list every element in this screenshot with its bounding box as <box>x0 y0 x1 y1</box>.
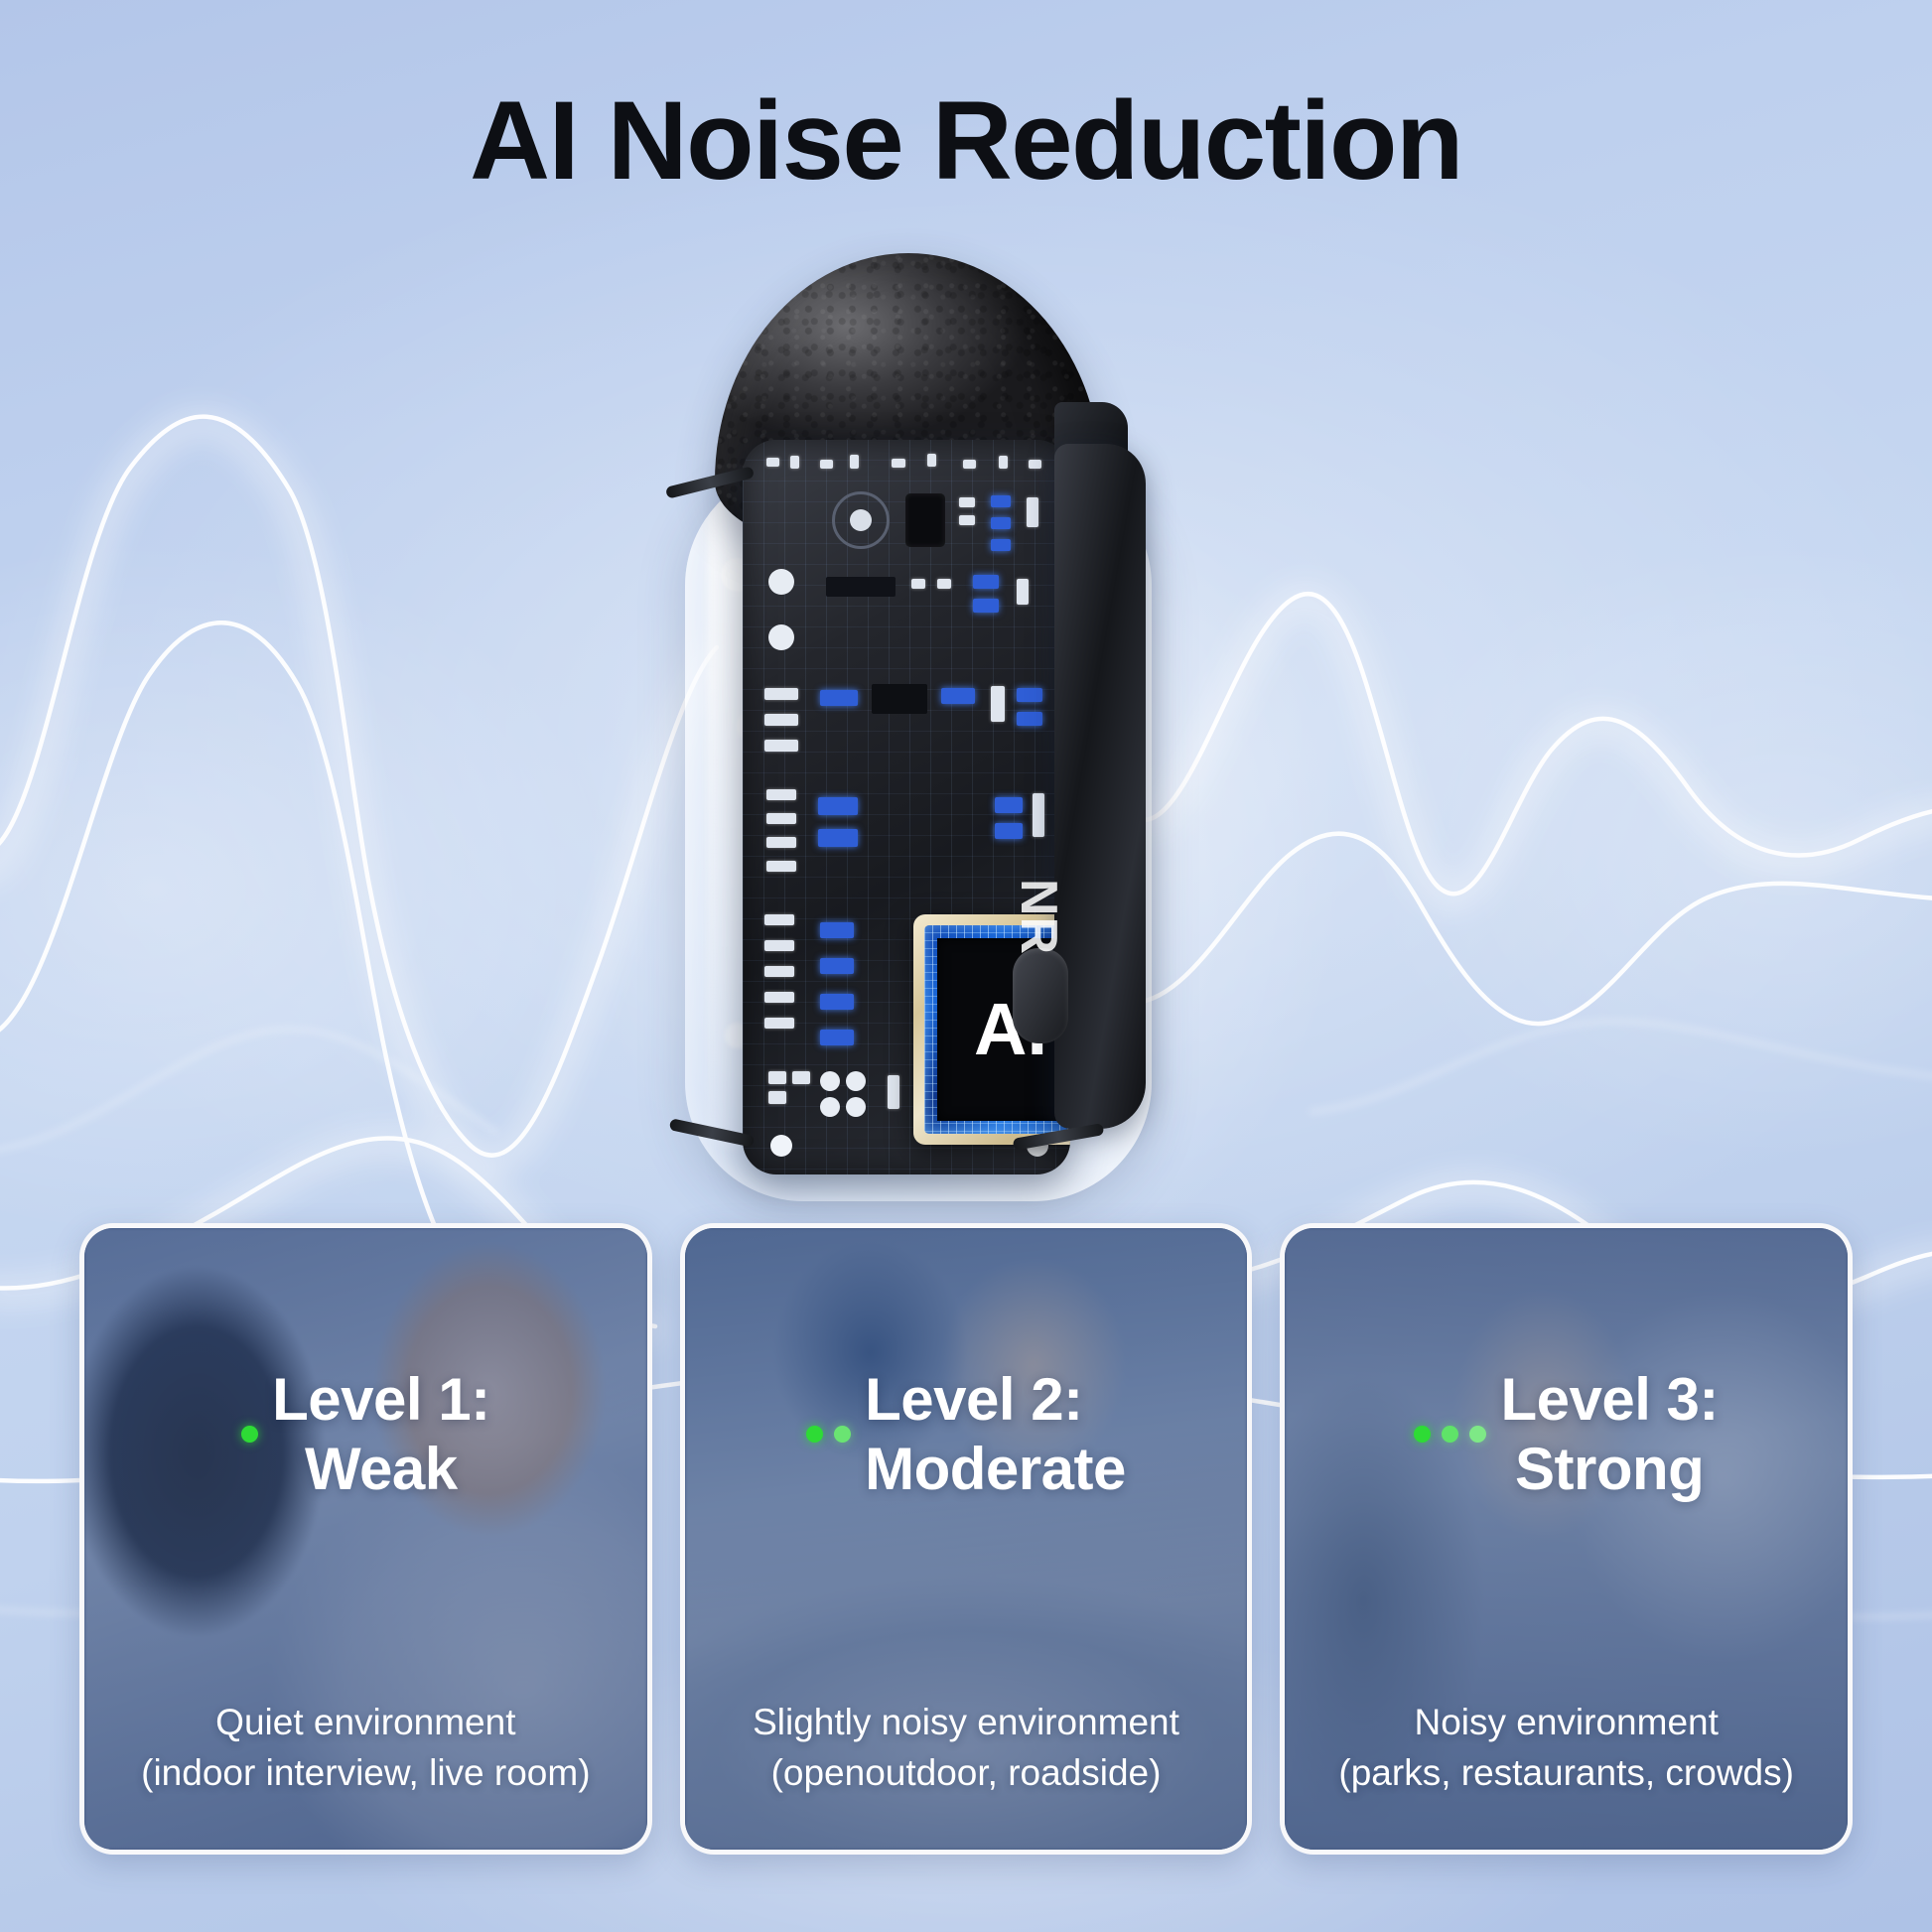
level-indicator-dots <box>806 1426 851 1443</box>
pcb-led <box>1017 712 1042 726</box>
pcb-pad <box>850 509 872 531</box>
pcb-pad <box>820 1097 840 1117</box>
level-indicator-dots <box>241 1426 258 1443</box>
circuit-board: AI <box>743 440 1070 1174</box>
page-title: AI Noise Reduction <box>0 75 1932 207</box>
card-heading-row: Level 3: Strong <box>1414 1365 1718 1503</box>
pcb-component <box>764 688 798 700</box>
pcb-component <box>764 714 798 726</box>
pcb-component <box>937 579 951 589</box>
pcb-component <box>1029 460 1041 469</box>
card-caption-line2: (parks, restaurants, crowds) <box>1338 1747 1794 1798</box>
pcb-component <box>766 837 796 848</box>
pcb-component <box>820 460 833 469</box>
card-caption-line1: Slightly noisy environment <box>753 1697 1179 1747</box>
level-dot <box>834 1426 851 1443</box>
pcb-component <box>764 914 794 925</box>
pcb-led <box>991 539 1011 551</box>
pcb-led <box>820 922 854 938</box>
pcb-component <box>792 1071 810 1084</box>
pcb-component <box>766 458 779 467</box>
card-caption: Quiet environment (indoor interview, liv… <box>141 1697 590 1798</box>
pcb-pad <box>820 1071 840 1091</box>
pcb-pad <box>770 1135 792 1157</box>
pcb-component <box>768 1071 786 1084</box>
pcb-component <box>766 861 796 872</box>
pcb-component <box>1033 793 1044 837</box>
card-heading-line2: Moderate <box>865 1435 1126 1504</box>
level-dot <box>1469 1426 1486 1443</box>
pcb-component <box>764 1018 794 1029</box>
pcb-led <box>820 690 858 706</box>
card-heading: Level 2: Moderate <box>865 1365 1126 1503</box>
card-caption-line1: Quiet environment <box>141 1697 590 1747</box>
card-caption-line1: Noisy environment <box>1338 1697 1794 1747</box>
pcb-component <box>892 459 905 468</box>
pcb-led <box>820 1030 854 1045</box>
pcb-component <box>850 455 859 469</box>
pcb-component <box>999 456 1008 469</box>
pcb-component <box>1017 579 1029 605</box>
level-card-1[interactable]: Level 1: Weak Quiet environment (indoor … <box>79 1223 652 1855</box>
pcb-component <box>1027 497 1038 527</box>
level-card-3[interactable]: Level 3: Strong Noisy environment (parks… <box>1280 1223 1853 1855</box>
poster-canvas: AI Noise Reduction <box>0 0 1932 1932</box>
pcb-led <box>991 495 1011 507</box>
card-heading: Level 3: Strong <box>1500 1365 1718 1503</box>
pcb-component <box>888 1075 899 1109</box>
pcb-component <box>764 740 798 752</box>
pcb-component <box>766 789 796 800</box>
pcb-led <box>820 958 854 974</box>
pcb-component <box>927 454 936 467</box>
pcb-component <box>766 813 796 824</box>
level-card-2[interactable]: Level 2: Moderate Slightly noisy environ… <box>680 1223 1253 1855</box>
pcb-led <box>973 575 999 589</box>
pcb-ic <box>872 684 927 714</box>
pcb-ic <box>826 577 896 597</box>
card-heading-line1: Level 1: <box>272 1366 489 1433</box>
pcb-led <box>973 599 999 613</box>
card-heading-line2: Weak <box>272 1435 489 1504</box>
card-heading: Level 1: Weak <box>272 1365 489 1503</box>
pcb-pad <box>846 1071 866 1091</box>
pcb-component <box>959 497 975 507</box>
pcb-pad <box>768 624 794 650</box>
level-dot <box>1414 1426 1431 1443</box>
pcb-led <box>995 797 1023 813</box>
card-caption: Slightly noisy environment (openoutdoor,… <box>753 1697 1179 1798</box>
pcb-pad <box>846 1097 866 1117</box>
level-dot <box>1442 1426 1458 1443</box>
pcb-led <box>820 994 854 1010</box>
card-heading-row: Level 2: Moderate <box>806 1365 1126 1503</box>
pcb-led <box>818 829 858 847</box>
product-microphone: AI <box>685 253 1241 1236</box>
side-button <box>1013 948 1068 1043</box>
pcb-component <box>959 515 975 525</box>
pcb-component <box>963 460 976 469</box>
pcb-component <box>764 966 794 977</box>
pcb-pad <box>768 569 794 595</box>
card-heading-line2: Strong <box>1500 1435 1718 1504</box>
card-caption-line2: (indoor interview, live room) <box>141 1747 590 1798</box>
pcb-component <box>991 686 1005 722</box>
pcb-component <box>764 940 794 951</box>
card-heading-line1: Level 2: <box>865 1366 1082 1433</box>
pcb-component <box>790 456 799 469</box>
level-dot <box>806 1426 823 1443</box>
pcb-led <box>818 797 858 815</box>
level-indicator-dots <box>1414 1426 1486 1443</box>
card-heading-row: Level 1: Weak <box>241 1365 489 1503</box>
pcb-led <box>991 517 1011 529</box>
card-caption-line2: (openoutdoor, roadside) <box>753 1747 1179 1798</box>
pcb-led <box>995 823 1023 839</box>
pcb-led <box>941 688 975 704</box>
lapel-clip-icon <box>1054 444 1146 1129</box>
pcb-led <box>1017 688 1042 702</box>
pcb-component <box>764 992 794 1003</box>
level-cards-row: Level 1: Weak Quiet environment (indoor … <box>79 1223 1853 1855</box>
noise-reduction-label: NR <box>1009 879 1068 955</box>
level-dot <box>241 1426 258 1443</box>
pcb-ic <box>905 493 945 547</box>
card-caption: Noisy environment (parks, restaurants, c… <box>1338 1697 1794 1798</box>
pcb-component <box>768 1091 786 1104</box>
card-heading-line1: Level 3: <box>1500 1366 1718 1433</box>
pcb-component <box>911 579 925 589</box>
